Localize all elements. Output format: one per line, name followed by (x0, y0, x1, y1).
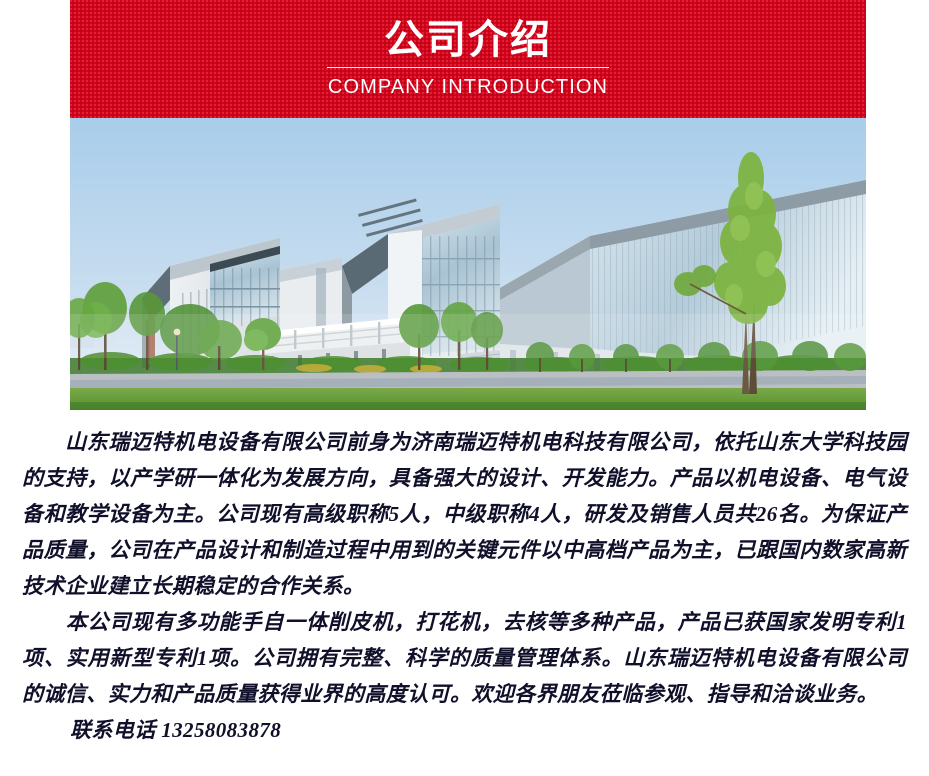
intro-paragraph-2: 本公司现有多功能手自一体削皮机，打花机，去核等多种产品，产品已获国家发明专利1项… (22, 604, 907, 712)
intro-paragraph-1: 山东瑞迈特机电设备有限公司前身为济南瑞迈特机电科技有限公司，依托山东大学科技园的… (22, 424, 907, 604)
building-illustration (70, 118, 866, 410)
company-building-photo (70, 118, 866, 410)
company-introduction-text: 山东瑞迈特机电设备有限公司前身为济南瑞迈特机电科技有限公司，依托山东大学科技园的… (0, 424, 929, 748)
contact-phone-line: 联系电话 13258083878 (22, 712, 907, 748)
header-divider (327, 67, 609, 68)
page-header-banner: 公司介绍 COMPANY INTRODUCTION (70, 0, 866, 118)
page-subtitle-english: COMPANY INTRODUCTION (328, 75, 608, 99)
page-title: 公司介绍 (384, 17, 552, 63)
